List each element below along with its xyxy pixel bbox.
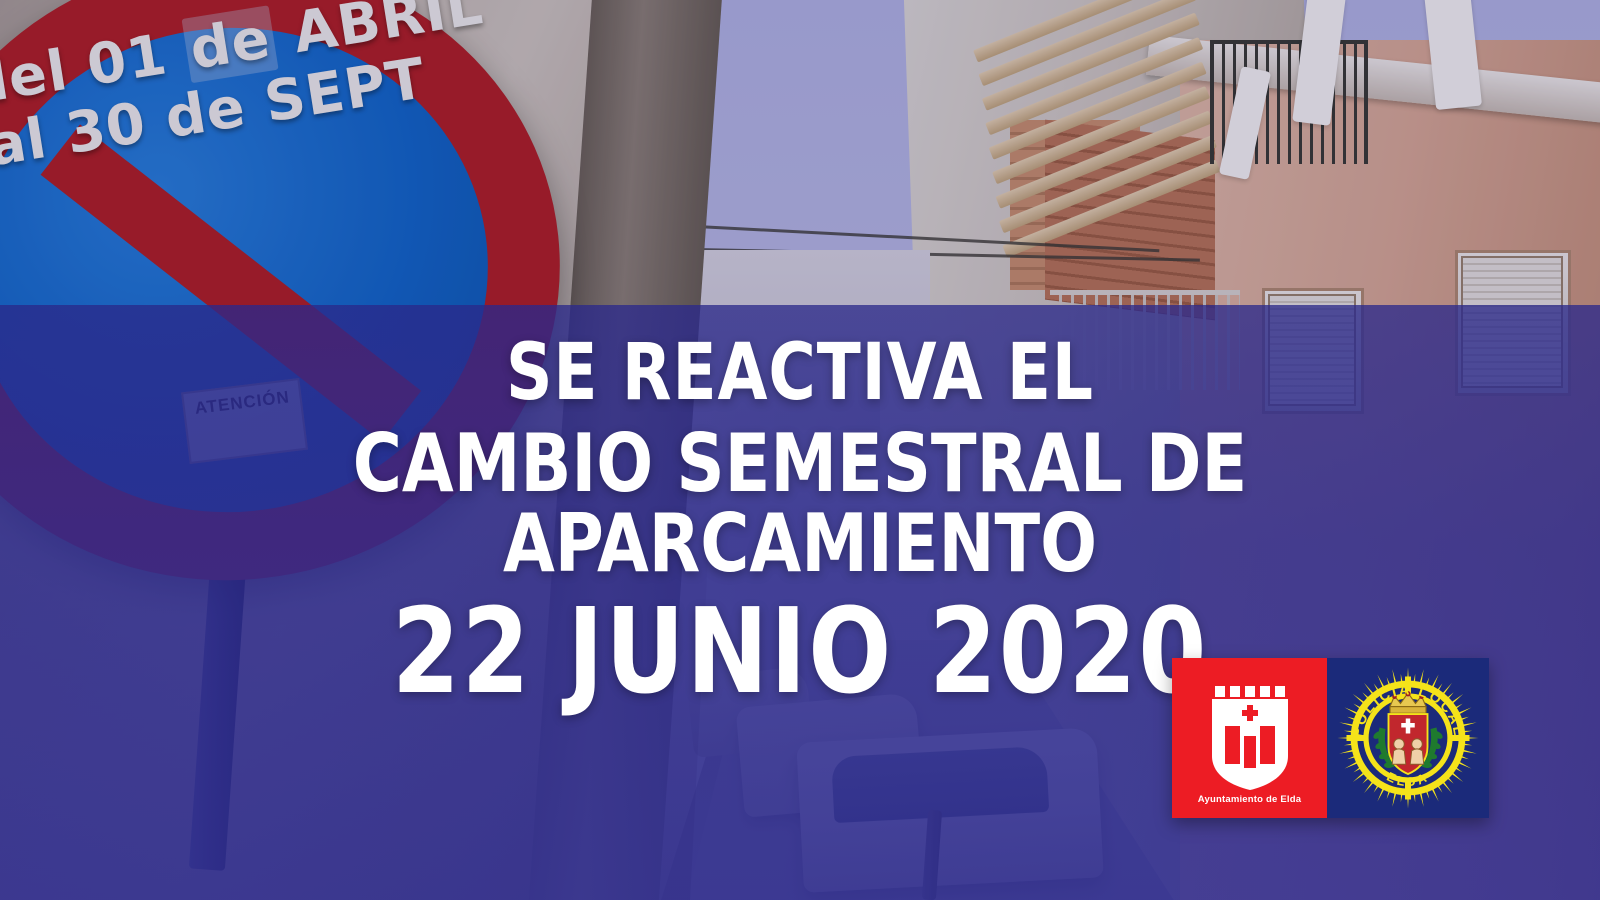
logo-ayuntamiento-de-elda: Ayuntamiento de Elda [1172,658,1327,818]
headline-block: SE REACTIVA EL CAMBIO SEMESTRAL DE APARC… [0,336,1600,710]
headline-line-2: CAMBIO SEMESTRAL DE APARCAMIENTO [56,424,1544,584]
logo-city-caption: Ayuntamiento de Elda [1172,794,1327,805]
headline-line-1: SE REACTIVA EL [64,336,1536,410]
logo-policia-local-elda: POLICIA LOCAL ELDA [1327,658,1489,818]
poster-announcement: del 01 de ABRIL al 30 de SEPT ATENCIÓN S… [0,0,1600,900]
logo-group: Ayuntamiento de Elda [1172,658,1489,818]
policia-local-badge-icon: POLICIA LOCAL ELDA [1333,663,1483,813]
overlay-tint-top [0,0,1600,305]
elda-coat-of-arms-icon [1209,686,1291,790]
